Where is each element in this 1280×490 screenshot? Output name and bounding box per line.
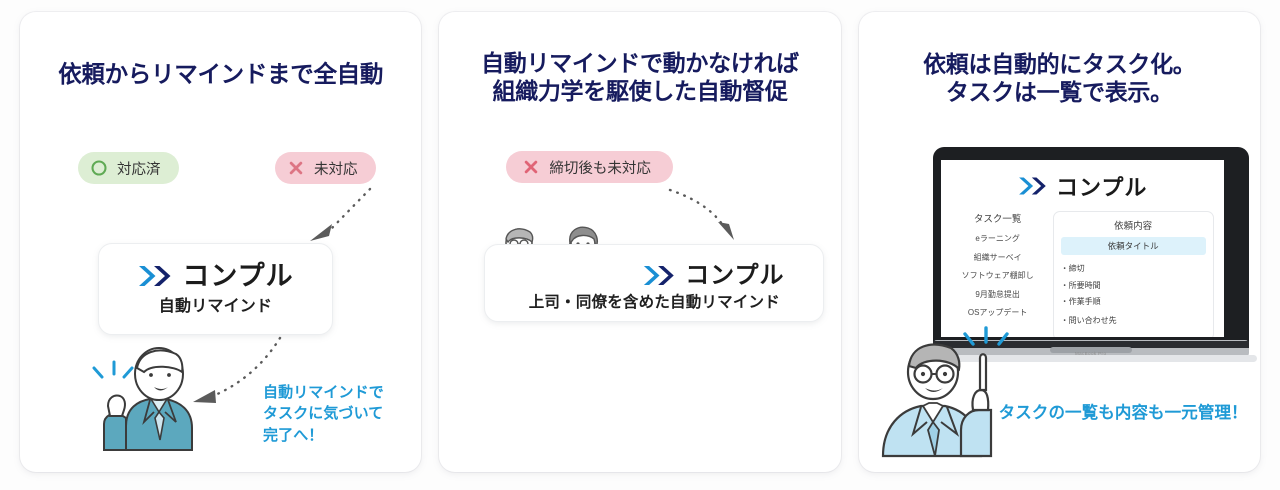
panel-task-list: 依頼は自動的にタスク化。 タスクは一覧で表示。 コンプル [859, 12, 1260, 472]
dotted-arrow-down-right-2 [664, 184, 746, 250]
detail-bullet: ・作業手順 [1061, 296, 1206, 307]
panel-2-title-line: 組織力学を駆使した自動督促 [439, 77, 840, 105]
status-chip-done-label: 対応済 [117, 158, 161, 179]
panel-3-title-line: タスクは一覧で表示。 [859, 78, 1260, 106]
list-item[interactable]: eラーニング [951, 233, 1045, 244]
status-chip-undone-label: 未対応 [314, 158, 358, 179]
caption-line: 完了へ！ [263, 425, 384, 446]
cross-icon [522, 158, 540, 176]
app-screen: コンプル タスク一覧 eラーニング 組織サーベイ ソフトウェア棚卸し 9月勤怠提… [941, 160, 1224, 337]
dotted-arrow-down-left-1 [302, 184, 380, 250]
panel-2-title-line: 自動リマインドで動かなければ [439, 49, 840, 77]
businessman-fist-pump-icon [82, 344, 200, 452]
panel-3-caption: タスクの一覧も内容も一元管理！ [999, 402, 1248, 425]
brand-name: コンプル [685, 264, 784, 288]
caption-line: タスクに気づいて [263, 403, 384, 424]
brand-logo: コンプル [642, 263, 784, 288]
caption-line: 自動リマインドで [263, 382, 384, 403]
list-item[interactable]: 組織サーベイ [951, 252, 1045, 263]
product-card-subtitle: 自動リマインド [159, 292, 272, 316]
circle-outline-icon [90, 159, 108, 177]
detail-bullet: ・問い合わせ先 [1061, 315, 1206, 326]
request-detail-card: 依頼内容 依頼タイトル ・締切 ・所要時間 ・作業手順 ・問い合わせ先 [1053, 211, 1214, 337]
panel-3-title: 依頼は自動的にタスク化。 タスクは一覧で表示。 [859, 50, 1260, 106]
brand-logo: コンプル [137, 263, 293, 290]
businessman-pointing-up-icon [869, 318, 1019, 458]
panel-1-title: 依頼からリマインドまで全自動 [20, 60, 421, 89]
panel-2-title: 自動リマインドで動かなければ 組織力学を駆使した自動督促 [439, 49, 840, 105]
app-brand-name: コンプル [1056, 170, 1147, 202]
panel-auto-reminder: 依頼からリマインドまで全自動 対応済 未対応 [20, 12, 421, 472]
panel-3-title-line: 依頼は自動的にタスク化。 [859, 50, 1260, 78]
status-chip-overdue: 締切後も未対応 [506, 151, 673, 183]
detail-bullet: ・所要時間 [1061, 280, 1206, 291]
app-brand-logo: コンプル [941, 170, 1224, 202]
status-chip-undone: 未対応 [275, 152, 376, 184]
double-chevron-icon [137, 263, 175, 289]
panel-1-caption: 自動リマインドで タスクに気づいて 完了へ！ [263, 382, 384, 446]
double-chevron-icon [642, 263, 678, 288]
product-card-auto-remind: コンプル 自動リマインド [98, 243, 333, 335]
panel-escalation-reminder: 自動リマインドで動かなければ 組織力学を駆使した自動督促 締切後も未対応 [439, 12, 840, 472]
cross-icon [287, 159, 305, 177]
detail-bullet: ・締切 [1061, 263, 1206, 274]
task-list-header: タスク一覧 [951, 211, 1045, 225]
status-chip-overdue-label: 締切後も未対応 [549, 157, 651, 178]
status-chip-done: 対応済 [78, 152, 179, 184]
request-title-field[interactable]: 依頼タイトル [1061, 237, 1206, 255]
product-card-subtitle: 上司・同僚を含めた自動リマインド [529, 290, 780, 312]
list-item[interactable]: 9月勤怠提出 [951, 289, 1045, 300]
brand-name: コンプル [182, 263, 293, 290]
request-detail-header: 依頼内容 [1061, 218, 1206, 232]
laptop-model-label: MacBook Pro [1075, 351, 1106, 356]
double-chevron-icon [1017, 175, 1050, 197]
feature-panels-row: 依頼からリマインドまで全自動 対応済 未対応 [0, 0, 1280, 490]
list-item[interactable]: OSアップデート [951, 307, 1045, 318]
list-item[interactable]: ソフトウェア棚卸し [951, 270, 1045, 281]
product-card-escalation: コンプル 上司・同僚を含めた自動リマインド [484, 244, 824, 322]
